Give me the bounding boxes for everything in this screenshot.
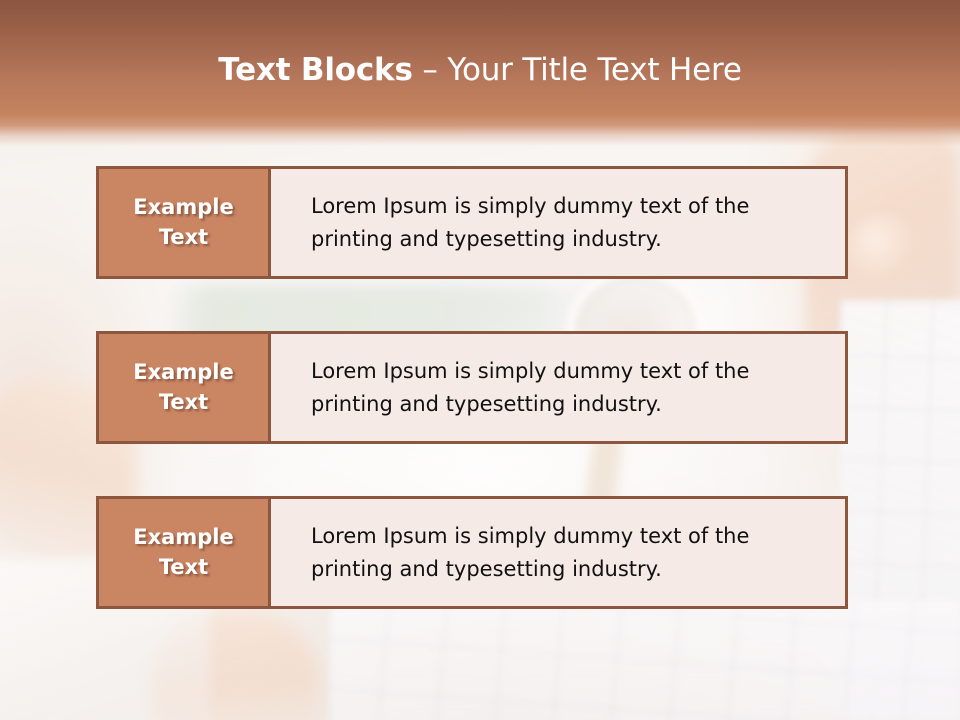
text-block[interactable]: Example Text Lorem Ipsum is simply dummy… (96, 496, 848, 609)
text-block-body[interactable]: Lorem Ipsum is simply dummy text of the … (271, 499, 845, 606)
text-block-body[interactable]: Lorem Ipsum is simply dummy text of the … (271, 334, 845, 441)
text-block[interactable]: Example Text Lorem Ipsum is simply dummy… (96, 166, 848, 279)
text-block-body[interactable]: Lorem Ipsum is simply dummy text of the … (271, 169, 845, 276)
text-block-label-text: Example Text (99, 523, 268, 583)
text-block[interactable]: Example Text Lorem Ipsum is simply dummy… (96, 331, 848, 444)
text-block-label-text: Example Text (99, 193, 268, 253)
page-title: Text Blocks – Your Title Text Here (0, 52, 960, 88)
page-title-bold: Text Blocks (218, 52, 412, 88)
page-title-rest: – Your Title Text Here (413, 52, 742, 88)
slide-canvas: Text Blocks – Your Title Text Here Examp… (0, 0, 960, 720)
text-block-label[interactable]: Example Text (99, 334, 271, 441)
text-block-body-text: Lorem Ipsum is simply dummy text of the … (311, 355, 823, 420)
text-block-label[interactable]: Example Text (99, 169, 271, 276)
text-block-body-text: Lorem Ipsum is simply dummy text of the … (311, 520, 823, 585)
text-block-body-text: Lorem Ipsum is simply dummy text of the … (311, 190, 823, 255)
text-blocks-list: Example Text Lorem Ipsum is simply dummy… (96, 166, 848, 661)
text-block-label[interactable]: Example Text (99, 499, 271, 606)
text-block-label-text: Example Text (99, 358, 268, 418)
